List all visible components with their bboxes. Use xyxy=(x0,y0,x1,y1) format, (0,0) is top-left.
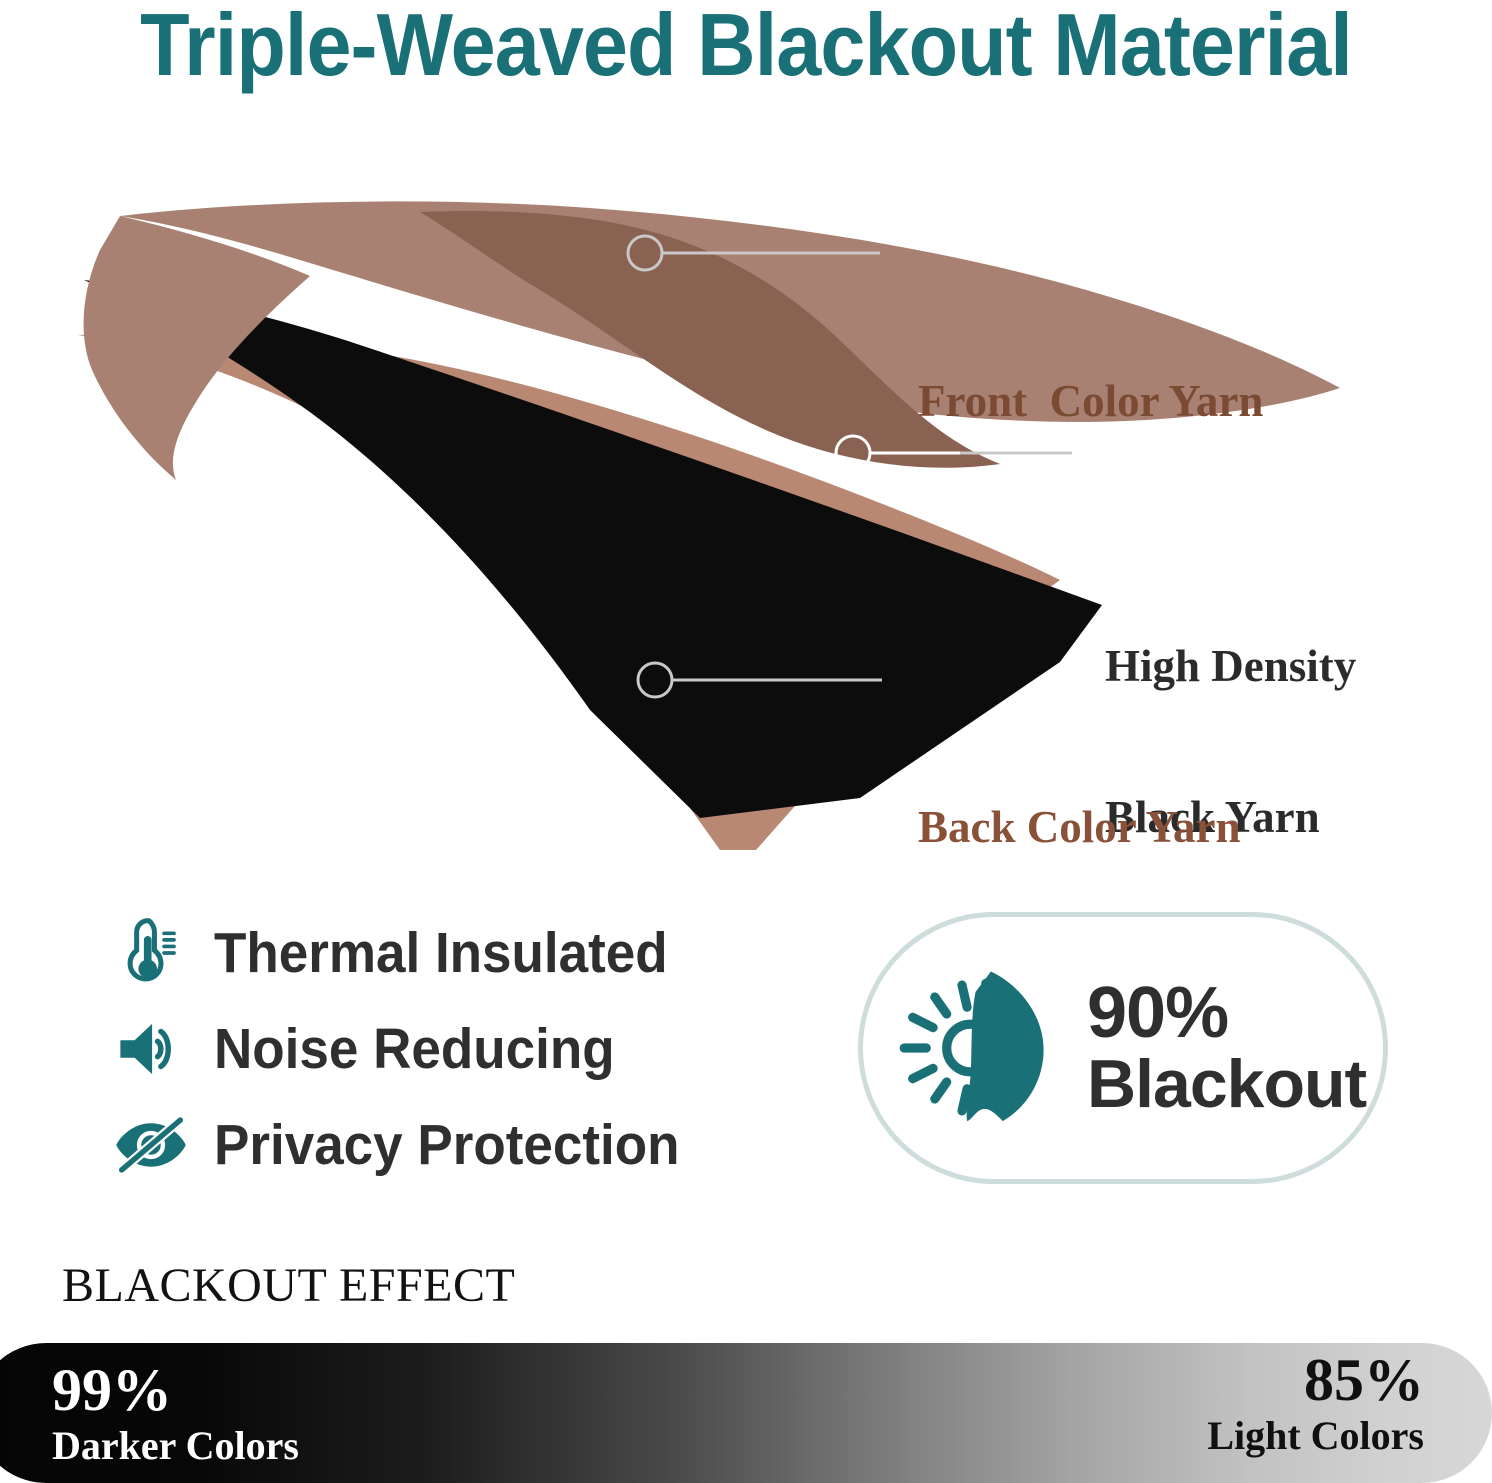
blackout-badge-percent: 90% xyxy=(1087,973,1228,1053)
sun-behind-curtain-icon xyxy=(889,963,1069,1133)
feature-item-privacy-protection: Privacy Protection xyxy=(112,1097,812,1193)
feature-item-noise-reducing: Noise Reducing xyxy=(112,1001,812,1097)
light-end-caption: Light Colors xyxy=(1207,1416,1424,1456)
dark-end-caption: Darker Colors xyxy=(52,1426,299,1466)
fabric-layers-diagram: Front Color Yarn High Density Black Yarn… xyxy=(0,150,1492,850)
blackout-effect-light-end: 85% Light Colors xyxy=(1207,1350,1424,1456)
dark-end-percent: 99% xyxy=(52,1360,299,1420)
light-end-percent: 85% xyxy=(1207,1350,1424,1410)
feature-item-thermal-insulated: Thermal Insulated xyxy=(112,905,812,1001)
feature-label-noise-reducing: Noise Reducing xyxy=(214,1016,615,1082)
blackout-badge-text: 90% Blackout xyxy=(1087,977,1366,1120)
blackout-badge-word: Blackout xyxy=(1087,1046,1366,1122)
speaker-sound-icon xyxy=(112,1010,190,1088)
callout-line-1: High Density xyxy=(1105,641,1356,691)
feature-list: Thermal Insulated Noise Reducing Privacy… xyxy=(112,905,812,1193)
callout-back-color-yarn-label: Back Color Yarn xyxy=(918,802,1241,852)
eye-off-icon xyxy=(112,1106,190,1184)
thermometer-icon xyxy=(112,914,190,992)
blackout-effect-dark-end: 99% Darker Colors xyxy=(52,1360,299,1466)
page-title: Triple-Weaved Blackout Material xyxy=(60,0,1433,95)
callout-high-density-black-yarn-label: High Density Black Yarn xyxy=(1105,540,1356,943)
blackout-effect-heading: BLACKOUT EFFECT xyxy=(62,1258,515,1313)
blackout-percentage-badge: 90% Blackout xyxy=(858,912,1388,1184)
callout-front-color-yarn-label: Front Color Yarn xyxy=(918,376,1263,426)
feature-label-privacy-protection: Privacy Protection xyxy=(214,1112,679,1178)
feature-label-thermal-insulated: Thermal Insulated xyxy=(214,920,668,986)
